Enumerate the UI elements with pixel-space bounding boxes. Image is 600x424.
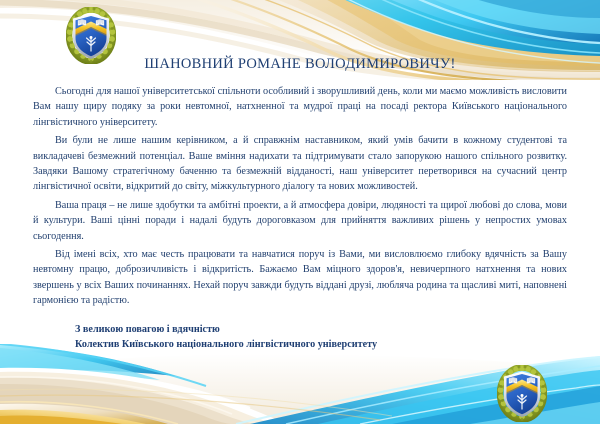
letter-paragraph: Ви були не лише нашим керівником, а й сп… — [33, 133, 567, 195]
signature-block: З великою повагою і вдячністю Колектив К… — [33, 322, 567, 353]
letter-paragraph: Ваша праця – не лише здобутки та амбітні… — [33, 198, 567, 244]
signature-signer: Колектив Київського національного лінгві… — [75, 337, 567, 352]
university-emblem-top — [66, 7, 116, 64]
letter-paragraph: Сьогодні для нашої університетської спіл… — [33, 84, 567, 130]
university-emblem-bottom — [497, 365, 547, 422]
certificate-page: ШАНОВНИЙ РОМАНЕ ВОЛОДИМИРОВИЧУ! Сьогодні… — [0, 0, 600, 424]
signature-closing: З великою повагою і вдячністю — [75, 322, 567, 337]
letter-paragraph: Від імені всіх, хто має честь працювати … — [33, 247, 567, 309]
letter-body: Сьогодні для нашої університетської спіл… — [33, 84, 567, 309]
